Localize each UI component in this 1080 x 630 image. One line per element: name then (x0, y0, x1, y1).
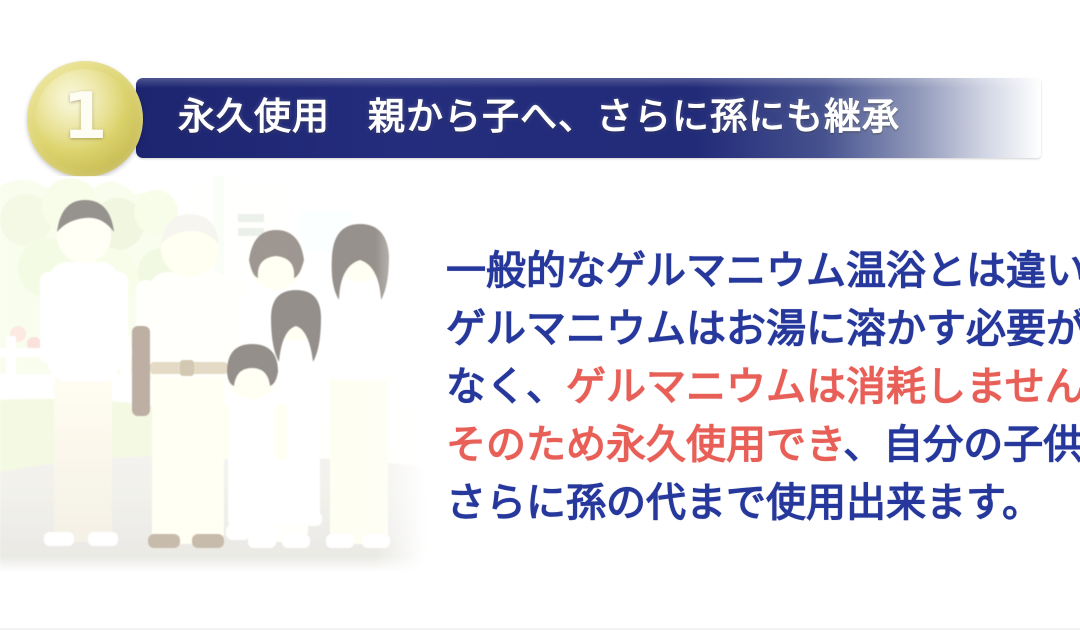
family-photo (0, 176, 426, 572)
body-line-5: さらに孫の代まで使用出来ます。 (446, 474, 1064, 532)
body-line-3: なく、ゲルマニウムは消耗しません。 (446, 358, 1064, 416)
page-title: 永久使用 親から子へ、さらに孫にも継承 (178, 98, 900, 135)
body-line-2: ゲルマニウムはお湯に溶かす必要が (446, 300, 1064, 358)
step-number-label: 1 (27, 61, 143, 177)
step-number-badge: 1 (27, 61, 143, 177)
body-line-4-segment-1: そのため永久使用でき (446, 422, 843, 468)
body-line-2-segment-1: ゲルマニウムはお湯に溶かす必要が (446, 306, 1080, 352)
body-line-5-segment-1: さらに孫の代まで使用出来ます。 (446, 480, 1042, 526)
body-line-4-segment-2: 、自分の子供、 (843, 422, 1080, 468)
body-copy: 一般的なゲルマニウム温浴とは違い、 ゲルマニウムはお湯に溶かす必要が なく、ゲル… (446, 242, 1064, 532)
body-line-4: そのため永久使用でき、自分の子供、 (446, 416, 1064, 474)
body-line-3-segment-2: ゲルマニウムは消耗しません。 (566, 364, 1080, 410)
section-header: 永久使用 親から子へ、さらに孫にも継承 (0, 72, 1080, 164)
body-line-1: 一般的なゲルマニウム温浴とは違い、 (446, 242, 1064, 300)
family-photo-illustration (0, 176, 426, 572)
promo-slide: 永久使用 親から子へ、さらに孫にも継承 1 (0, 0, 1080, 630)
body-line-1-segment-1: 一般的なゲルマニウム温浴とは違い、 (446, 248, 1080, 294)
body-line-3-segment-1: なく、 (446, 364, 566, 410)
